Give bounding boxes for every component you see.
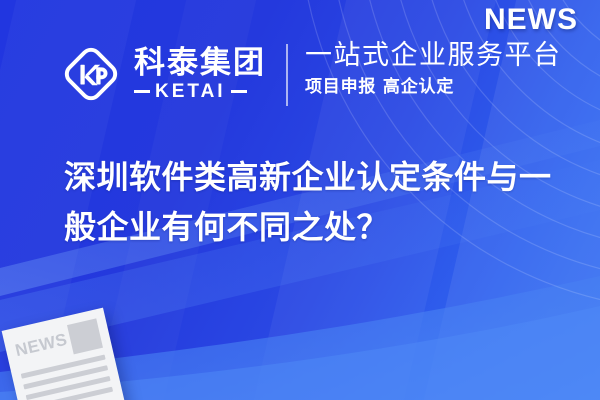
newspaper-title: NEWS [14,331,69,359]
news-label: NEWS [484,3,578,37]
dash-left-icon [134,90,150,93]
brand-name-cn: 科泰集团 [134,47,266,79]
tagline-main: 一站式企业服务平台 [305,40,575,71]
tagline-block: 一站式企业服务平台 项目申报 高企认定 [305,40,575,97]
brand-name-en-row: KETAI [134,82,266,101]
headline-line-1: 深圳软件类高新企业认定条件与一 [64,152,564,202]
brand-name-en: KETAI [155,82,226,101]
dash-right-icon [231,90,247,93]
headline-line-2: 般企业有何不同之处？ [64,202,564,252]
brand-wordmark: 科泰集团 KETAI [134,47,266,102]
news-banner: 科泰集团 KETAI 一站式企业服务平台 项目申报 高企认定 NEWS 深圳软件… [0,0,600,400]
newspaper-thumbnail [67,318,103,354]
header-divider [286,44,288,106]
headline: 深圳软件类高新企业认定条件与一 般企业有何不同之处？ [64,152,564,252]
brand-header: 科泰集团 KETAI [58,36,266,112]
tagline-sub: 项目申报 高企认定 [305,78,575,97]
ketai-diamond-monogram-icon [58,41,124,107]
